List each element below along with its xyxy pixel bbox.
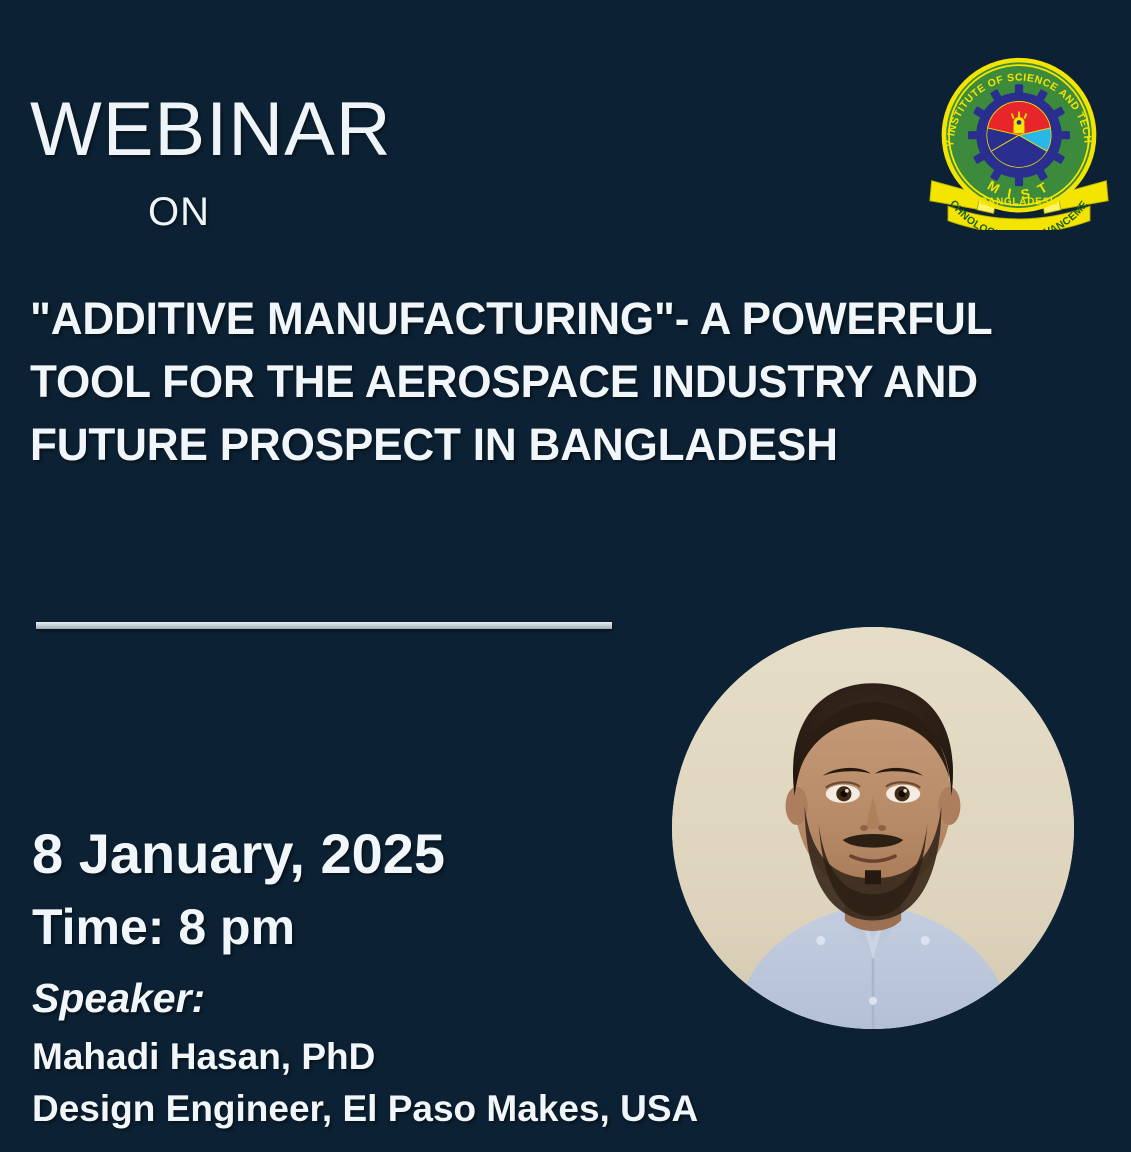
speaker-role: Design Engineer, El Paso Makes, USA (32, 1090, 698, 1127)
speaker-name: Mahadi Hasan, PhD (32, 1038, 375, 1075)
webinar-poster: MILITARY INSTITUTE OF SCIENCE AND TECHNO… (0, 0, 1131, 1152)
logo-emblem (987, 101, 1051, 167)
webinar-topic-line-1: "ADDITIVE MANUFACTURING"- A POWERFUL (30, 287, 1074, 350)
divider-rule (36, 622, 612, 629)
event-time: Time: 8 pm (32, 902, 295, 952)
webinar-topic: "ADDITIVE MANUFACTURING"- A POWERFUL TOO… (30, 287, 1095, 476)
page-title: WEBINAR (30, 92, 392, 168)
speaker-photo (672, 627, 1074, 1029)
webinar-topic-line-3: FUTURE PROSPECT IN BANGLADESH (30, 413, 1074, 476)
page-subtitle-on: ON (148, 192, 210, 232)
speaker-label: Speaker: (32, 978, 205, 1019)
logo-country: BANGLADESH (980, 196, 1058, 207)
mist-logo: MILITARY INSTITUTE OF SCIENCE AND TECHNO… (928, 44, 1110, 230)
event-date: 8 January, 2025 (32, 826, 445, 882)
webinar-topic-line-2: TOOL FOR THE AEROSPACE INDUSTRY AND (30, 350, 1074, 413)
